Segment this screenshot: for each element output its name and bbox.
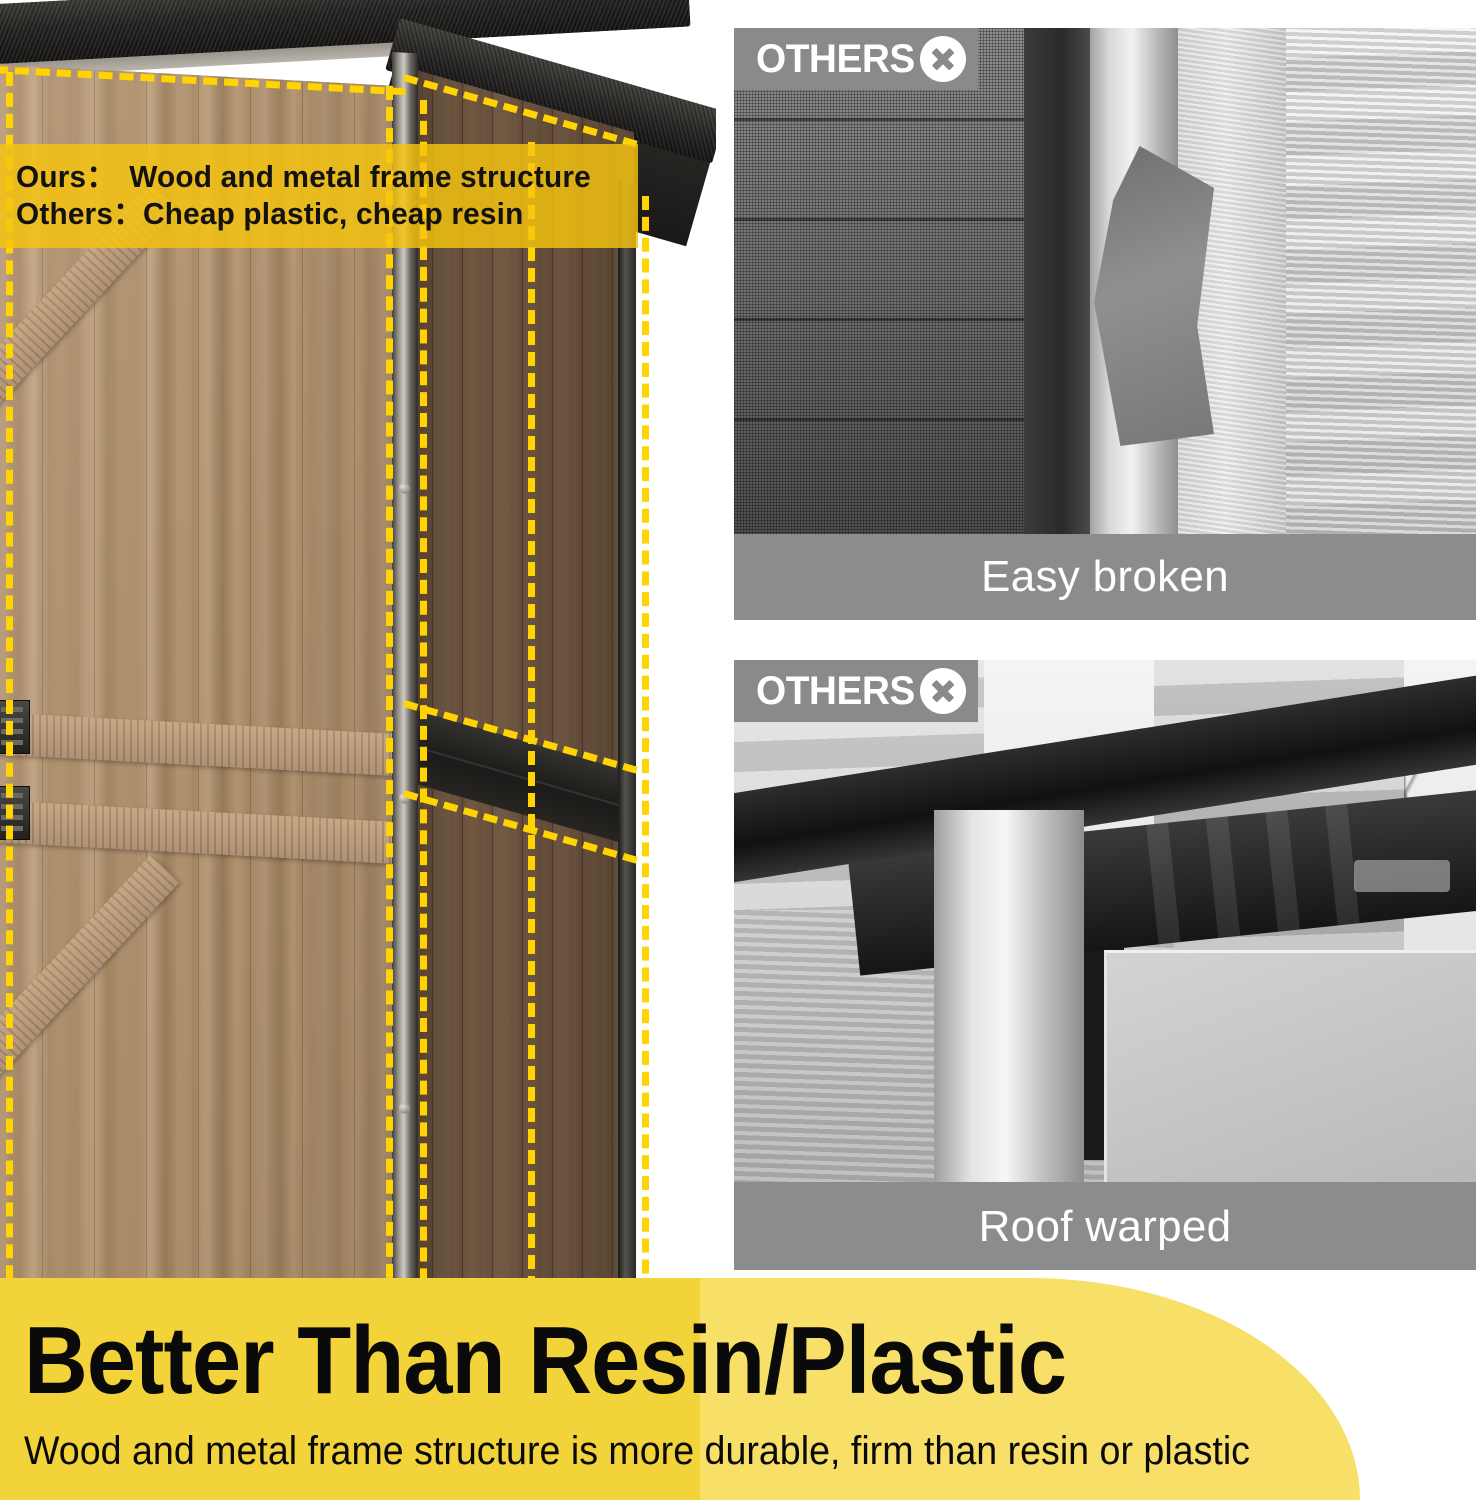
caption-text: Easy broken xyxy=(981,555,1229,599)
label-key-others: Others： xyxy=(16,197,143,232)
label-row-ours: Ours：Wood and metal frame structure xyxy=(16,160,613,195)
others-badge-panel-b: OTHERS xyxy=(734,660,978,722)
circle-x-icon xyxy=(920,668,966,714)
photo-broken-plastic xyxy=(734,28,1476,536)
caption-text: Roof warped xyxy=(979,1205,1232,1249)
banner-subline: Wood and metal frame structure is more d… xyxy=(24,1430,1250,1472)
label-row-others: Others：Cheap plastic, cheap resin xyxy=(16,197,613,232)
photo-b-shed-corner-post xyxy=(934,810,1084,1182)
label-value-others: Cheap plastic, cheap resin xyxy=(143,196,523,231)
photo-a-mesh-screen xyxy=(734,28,1024,536)
banner-headline: Better Than Resin/Plastic xyxy=(24,1314,1066,1408)
caption-bar-roof-warped: Roof warped xyxy=(734,1184,1476,1270)
label-key-ours: Ours： xyxy=(16,160,129,195)
others-badge-label: OTHERS xyxy=(756,671,915,711)
comparison-label-box: Ours：Wood and metal frame structure Othe… xyxy=(0,144,638,248)
frame-highlight-side-rear xyxy=(642,196,649,1336)
comparison-panel-roof-warped: OTHERS Roof warped xyxy=(734,660,1476,1270)
caption-bar-easy-broken: Easy broken xyxy=(734,534,1476,620)
circle-x-icon xyxy=(920,36,966,82)
label-value-ours: Wood and metal frame structure xyxy=(129,159,591,194)
infographic-root: Ours：Wood and metal frame structure Othe… xyxy=(0,0,1476,1500)
comparison-panel-easy-broken: OTHERS Easy broken xyxy=(734,28,1476,620)
others-badge-panel-a: OTHERS xyxy=(734,28,978,90)
shed-rear-corner-post xyxy=(618,180,636,1335)
photo-b-brand-logo xyxy=(1354,860,1450,892)
frame-highlight-left-edge xyxy=(6,72,13,1342)
door-hinge-upper xyxy=(0,700,30,754)
others-badge-label: OTHERS xyxy=(756,39,915,79)
frame-highlight-corner-right xyxy=(420,100,427,1345)
photo-a-shadow-gap xyxy=(1020,28,1090,536)
photo-a-house-siding xyxy=(1282,28,1476,536)
photo-warped-roof xyxy=(734,660,1476,1182)
door-hinge-lower xyxy=(0,786,30,840)
hero-product-image: Ours：Wood and metal frame structure Othe… xyxy=(0,0,716,1400)
photo-b-shed-door xyxy=(1104,950,1476,1182)
frame-highlight-corner-left xyxy=(386,86,393,1341)
